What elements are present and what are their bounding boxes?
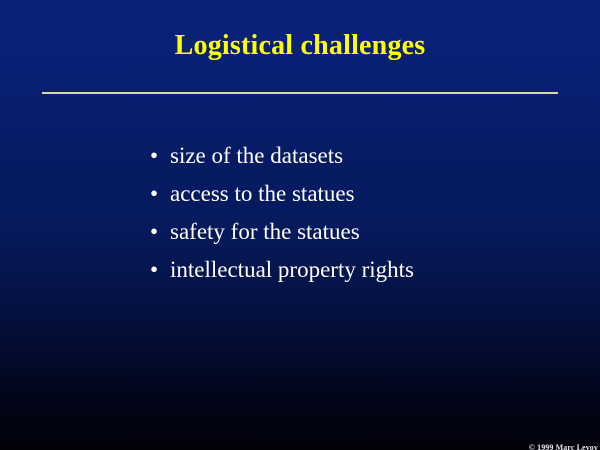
presentation-slide: Logistical challenges • size of the data…: [0, 0, 600, 450]
list-item: • size of the datasets: [148, 139, 568, 177]
list-item-label: size of the datasets: [170, 143, 343, 168]
title-divider: [42, 92, 558, 94]
bullet-point-icon: •: [150, 253, 158, 286]
list-item: • access to the statues: [148, 177, 568, 215]
bullet-point-icon: •: [150, 177, 158, 210]
list-item-label: safety for the statues: [170, 219, 360, 244]
list-item-label: access to the statues: [170, 181, 355, 206]
list-item: • safety for the statues: [148, 215, 568, 253]
list-item: • intellectual property rights: [148, 253, 568, 291]
bullet-point-icon: •: [150, 215, 158, 248]
page-title: Logistical challenges: [0, 29, 600, 63]
list-item-label: intellectual property rights: [170, 257, 414, 282]
bullet-list: • size of the datasets • access to the s…: [148, 139, 568, 291]
bullet-point-icon: •: [150, 139, 158, 172]
copyright-notice: © 1999 Marc Levoy: [529, 443, 598, 450]
